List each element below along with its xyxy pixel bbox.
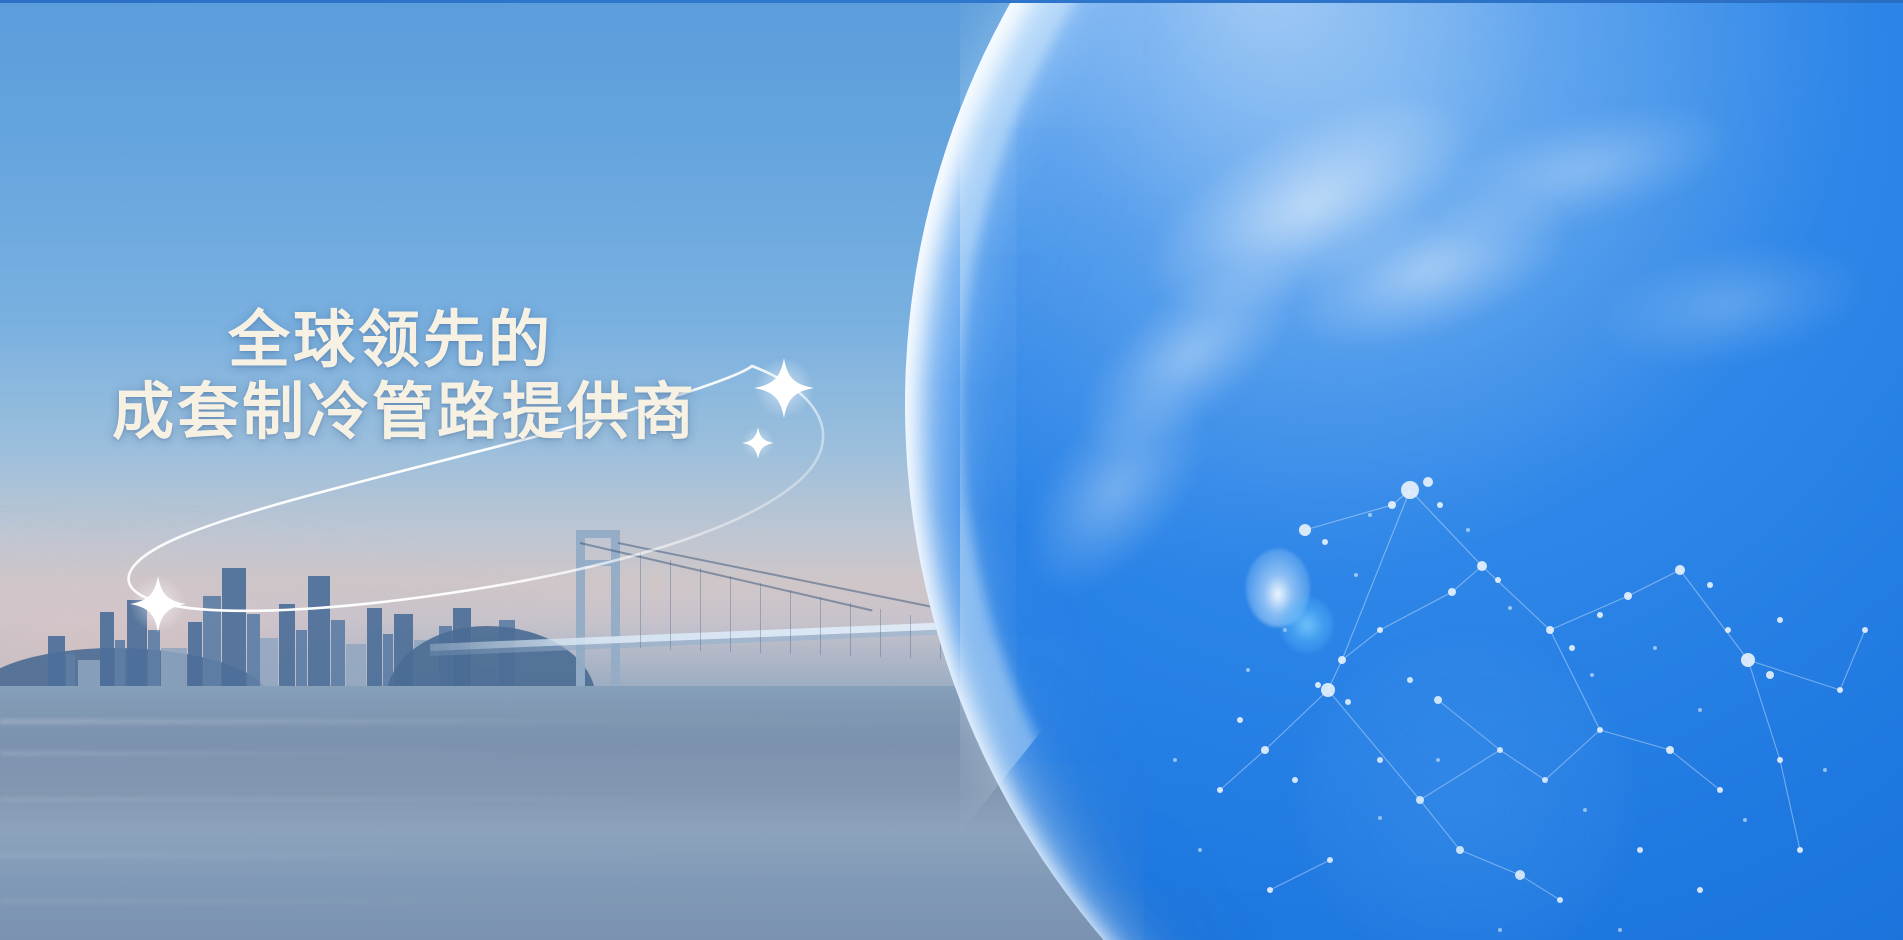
- earth-from-space: [0, 0, 1903, 940]
- headline-line-1: 全球领先的: [228, 305, 872, 377]
- top-accent-strip: [0, 0, 1903, 3]
- hero-banner: 全球领先的 成套制冷管路提供商: [0, 0, 1903, 940]
- headline-line-2: 成套制冷管路提供商: [112, 377, 872, 449]
- globe-body: [905, 0, 1903, 940]
- hero-headline: 全球领先的 成套制冷管路提供商: [112, 305, 872, 449]
